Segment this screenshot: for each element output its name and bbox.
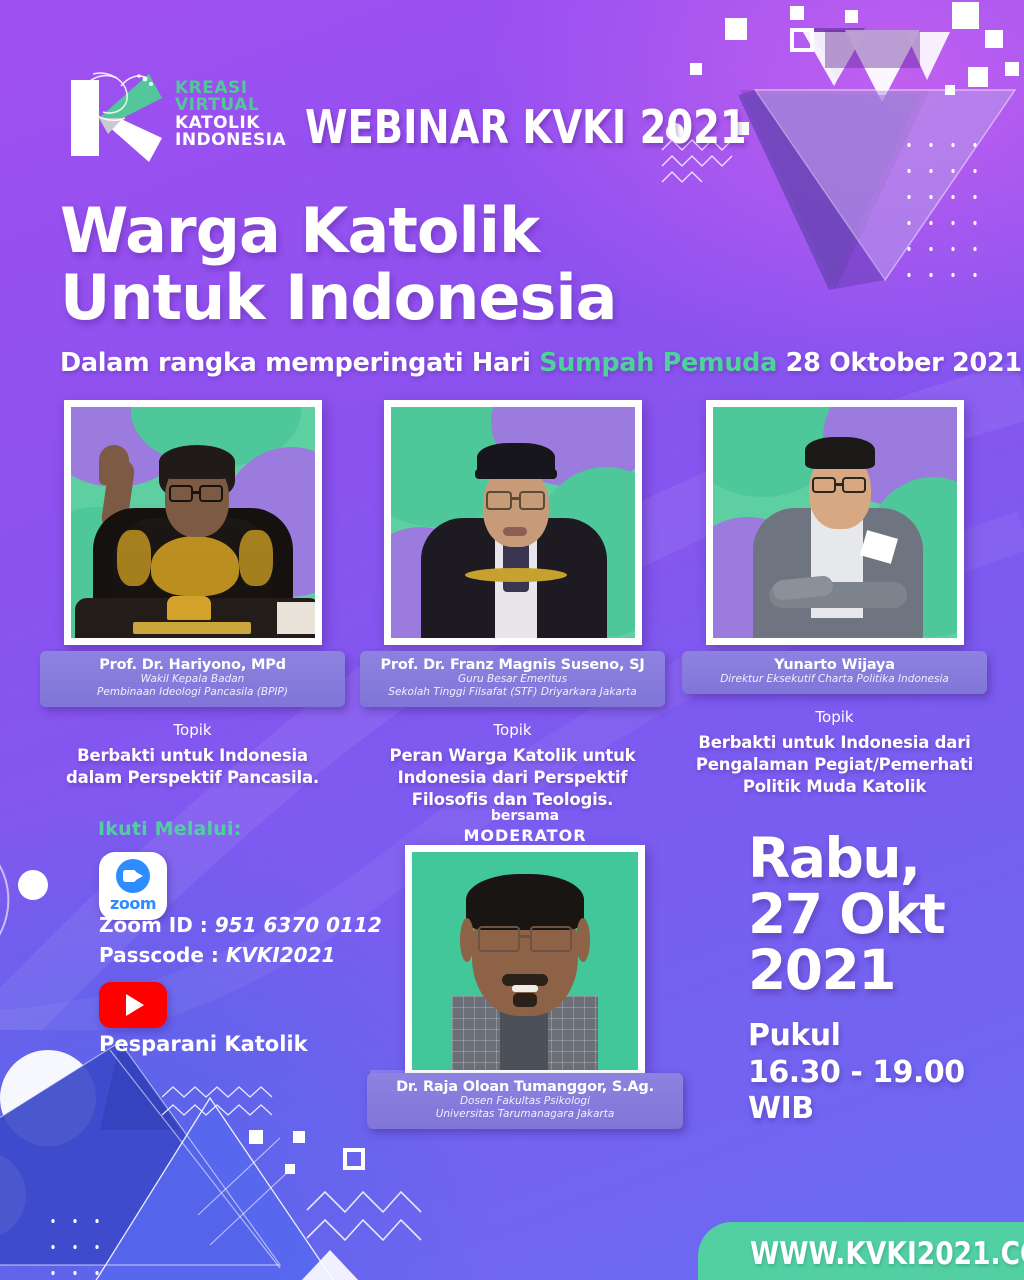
event-time: Pukul 16.30 - 19.00 WIB — [748, 1018, 1018, 1128]
deco-square — [845, 10, 858, 23]
speaker-card: Yunarto Wijaya Direktur Eksekutif Charta… — [678, 400, 991, 797]
deco-square — [725, 18, 747, 40]
event-day: Rabu, — [748, 830, 1008, 886]
time-label: Pukul — [748, 1018, 1018, 1055]
deco-square — [249, 1130, 263, 1144]
website-url: WWW.KVKI2021.COM — [750, 1236, 1024, 1272]
speaker-affiliation-line-1: Wakil Kepala Badan — [46, 673, 339, 686]
topic-text: Peran Warga Katolik untuk Indonesia dari… — [356, 745, 669, 810]
youtube-play-icon[interactable] — [99, 982, 167, 1028]
deco-square — [985, 30, 1003, 48]
topic-label: Topik — [678, 708, 991, 726]
speaker-photo-hariyono — [71, 407, 315, 638]
topic-line-2: dalam Perspektif Pancasila. — [36, 767, 349, 789]
page-title: Warga Katolik Untuk Indonesia — [60, 198, 820, 332]
topic-label: Topik — [36, 721, 349, 739]
title-line-1: Warga Katolik — [60, 198, 820, 265]
deco-square — [293, 1131, 305, 1143]
website-banner[interactable]: WWW.KVKI2021.COM — [698, 1222, 1024, 1280]
deco-square-outline — [343, 1148, 365, 1170]
deco-zigzag-lines — [160, 1085, 285, 1125]
subtitle-highlight: Sumpah Pemuda — [539, 348, 777, 378]
deco-dot-grid — [42, 1208, 114, 1280]
deco-square — [790, 6, 804, 20]
topic-line-2: Pengalaman Pegiat/Pemerhati — [678, 754, 991, 776]
brand-line-4: INDONESIA — [175, 132, 286, 149]
speaker-affiliation-line-1: Direktur Eksekutif Charta Politika Indon… — [688, 673, 981, 686]
moderator-label: bersama MODERATOR — [400, 808, 650, 846]
topic-line-3: Politik Muda Katolik — [678, 776, 991, 798]
speaker-card: Prof. Dr. Hariyono, MPd Wakil Kepala Bad… — [36, 400, 349, 789]
deco-square — [945, 85, 955, 95]
moderator-label-top: bersama — [400, 808, 650, 826]
zoom-camera-glyph — [116, 859, 150, 893]
zoom-logo-icon[interactable]: zoom — [99, 852, 167, 920]
poster-canvas: KREASI VIRTUAL KATOLIK INDONESIA WEBINAR… — [0, 0, 1024, 1280]
deco-zigzag-lines — [305, 1190, 430, 1245]
k-dove-logo-icon — [63, 68, 168, 168]
youtube-channel-name: Pesparani Katolik — [99, 1032, 308, 1056]
moderator-affiliation-line-1: Dosen Fakultas Psikologi — [373, 1095, 677, 1108]
topic-line-1: Peran Warga Katolik untuk — [356, 745, 669, 767]
speaker-name: Prof. Dr. Franz Magnis Suseno, SJ — [366, 657, 659, 673]
topic-text: Berbakti untuk Indonesia dalam Perspekti… — [36, 745, 349, 789]
deco-dot-grid — [898, 132, 978, 277]
moderator-label-bottom: MODERATOR — [400, 826, 650, 846]
topic-line-1: Berbakti untuk Indonesia — [36, 745, 349, 767]
deco-square — [285, 1164, 295, 1174]
brand-wordmark: KREASI VIRTUAL KATOLIK INDONESIA — [175, 80, 286, 149]
zoom-id-label: Zoom ID : — [99, 913, 215, 937]
event-date-line: 27 Okt — [748, 886, 1008, 942]
speaker-affiliation-line-2: Sekolah Tinggi Filsafat (STF) Driyarkara… — [366, 686, 659, 699]
speaker-name: Prof. Dr. Hariyono, MPd — [46, 657, 339, 673]
speaker-card: Prof. Dr. Franz Magnis Suseno, SJ Guru B… — [356, 400, 669, 811]
title-line-2: Untuk Indonesia — [60, 265, 820, 332]
event-year: 2021 — [748, 942, 1008, 998]
deco-arc — [0, 840, 52, 960]
speaker-photo-frame — [384, 400, 642, 645]
subtitle-pre: Dalam rangka memperingati Hari — [60, 348, 539, 378]
deco-square — [690, 63, 702, 75]
topic-label: Topik — [356, 721, 669, 739]
speaker-photo-magnis-suseno — [391, 407, 635, 638]
subtitle: Dalam rangka memperingati Hari Sumpah Pe… — [60, 348, 1022, 378]
deco-square-outline — [790, 28, 814, 52]
time-range: 16.30 - 19.00 — [748, 1055, 1018, 1092]
passcode-label: Passcode : — [99, 943, 226, 967]
deco-square — [968, 67, 988, 87]
zoom-wordmark: zoom — [110, 894, 156, 913]
deco-square — [1005, 62, 1019, 76]
moderator-nameplate: Dr. Raja Oloan Tumanggor, S.Ag. Dosen Fa… — [367, 1073, 683, 1129]
speaker-nameplate: Prof. Dr. Hariyono, MPd Wakil Kepala Bad… — [40, 651, 345, 707]
speaker-nameplate: Yunarto Wijaya Direktur Eksekutif Charta… — [682, 651, 987, 694]
speaker-photo-frame — [64, 400, 322, 645]
speaker-affiliation-line-1: Guru Besar Emeritus — [366, 673, 659, 686]
event-date: Rabu, 27 Okt 2021 — [748, 830, 1008, 998]
speaker-photo-yunarto-wijaya — [713, 407, 957, 638]
moderator-photo-frame — [405, 845, 645, 1077]
webinar-label: WEBINAR KVKI 2021 — [305, 100, 747, 154]
brand-logo: KREASI VIRTUAL KATOLIK INDONESIA — [55, 50, 295, 175]
speaker-nameplate: Prof. Dr. Franz Magnis Suseno, SJ Guru B… — [360, 651, 665, 707]
speaker-photo-frame — [706, 400, 964, 645]
zoom-id-row: Zoom ID : 951 6370 0112 — [99, 913, 382, 937]
moderator-name: Dr. Raja Oloan Tumanggor, S.Ag. — [373, 1079, 677, 1095]
topic-line-1: Berbakti untuk Indonesia dari — [678, 732, 991, 754]
join-heading: Ikuti Melalui: — [98, 818, 242, 840]
moderator-affiliation-line-2: Universitas Tarumanagara Jakarta — [373, 1108, 677, 1121]
subtitle-post: 28 Oktober 2021 — [777, 348, 1022, 378]
speaker-affiliation-line-2: Pembinaan Ideologi Pancasila (BPIP) — [46, 686, 339, 699]
moderator-photo-raja-oloan-tumanggor — [412, 852, 638, 1070]
deco-circle — [18, 870, 48, 900]
topic-line-2: Indonesia dari Perspektif — [356, 767, 669, 789]
speakers-section: Prof. Dr. Hariyono, MPd Wakil Kepala Bad… — [0, 400, 1024, 800]
zoom-id-value: 951 6370 0112 — [215, 913, 382, 937]
speaker-name: Yunarto Wijaya — [688, 657, 981, 673]
deco-square — [952, 2, 979, 29]
topic-text: Berbakti untuk Indonesia dari Pengalaman… — [678, 732, 991, 797]
passcode-value: KVKI2021 — [226, 943, 336, 967]
passcode-row: Passcode : KVKI2021 — [99, 943, 335, 967]
time-zone: WIB — [748, 1091, 1018, 1128]
